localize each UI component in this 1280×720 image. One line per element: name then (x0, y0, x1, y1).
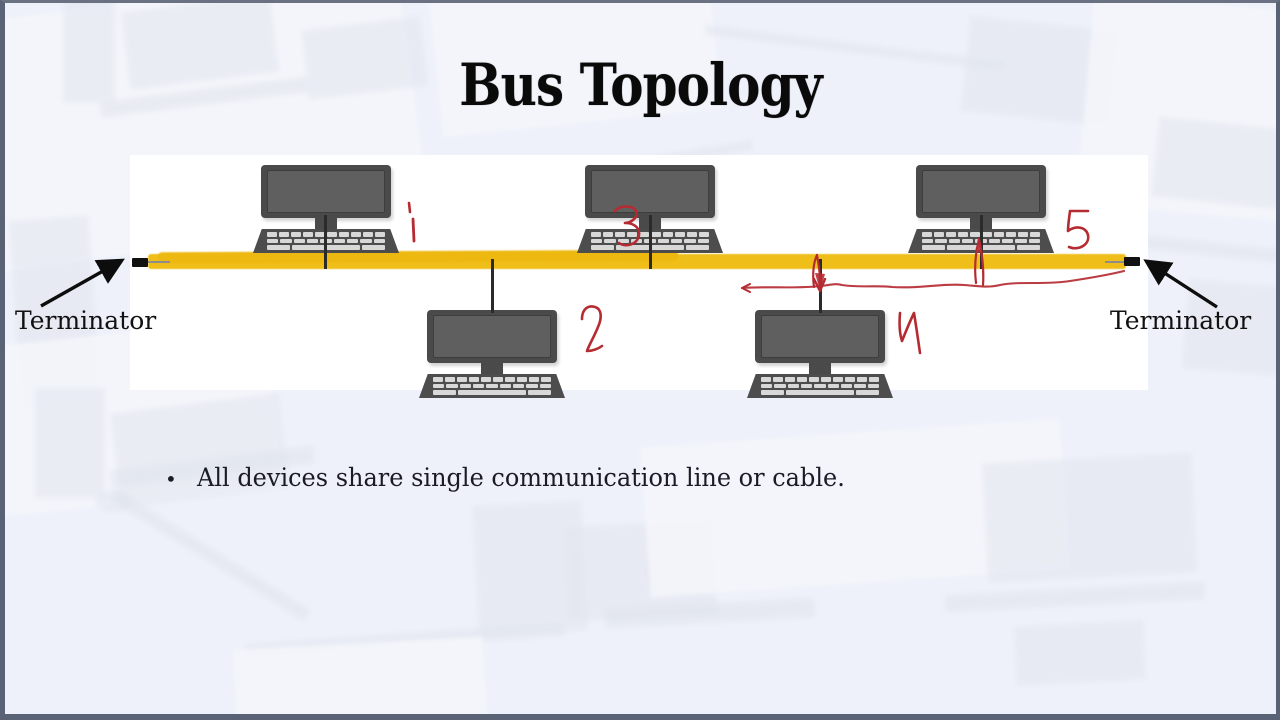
right-terminator-label: Terminator (1110, 306, 1251, 335)
monitor-stand (481, 363, 503, 374)
slide: Bus Topology (0, 0, 1280, 720)
monitor-icon (585, 165, 715, 218)
computer-5-link (980, 215, 983, 269)
screen (761, 315, 879, 358)
computer-4-link (819, 259, 822, 313)
computer-2[interactable] (427, 310, 557, 398)
screen (267, 170, 385, 213)
computer-4[interactable] (755, 310, 885, 398)
left-terminator-label: Terminator (15, 306, 156, 335)
monitor-stand (809, 363, 831, 374)
left-terminator-stub (148, 261, 170, 263)
monitor-icon (261, 165, 391, 218)
topology-diagram (130, 155, 1148, 390)
bullet-text: All devices share single communication l… (197, 463, 845, 492)
bullet-marker: • (165, 469, 177, 489)
screen (591, 170, 709, 213)
page-title: Bus Topology (94, 51, 1187, 119)
monitor-icon (427, 310, 557, 363)
monitor-icon (916, 165, 1046, 218)
screen (433, 315, 551, 358)
keyboard-icon (419, 374, 565, 398)
keyboard-icon (747, 374, 893, 398)
computer-1-link (324, 215, 327, 269)
computer-3-link (649, 215, 652, 269)
screen (922, 170, 1040, 213)
computer-2-link (491, 259, 494, 313)
monitor-icon (755, 310, 885, 363)
bullet-item: • All devices share single communication… (165, 463, 872, 492)
